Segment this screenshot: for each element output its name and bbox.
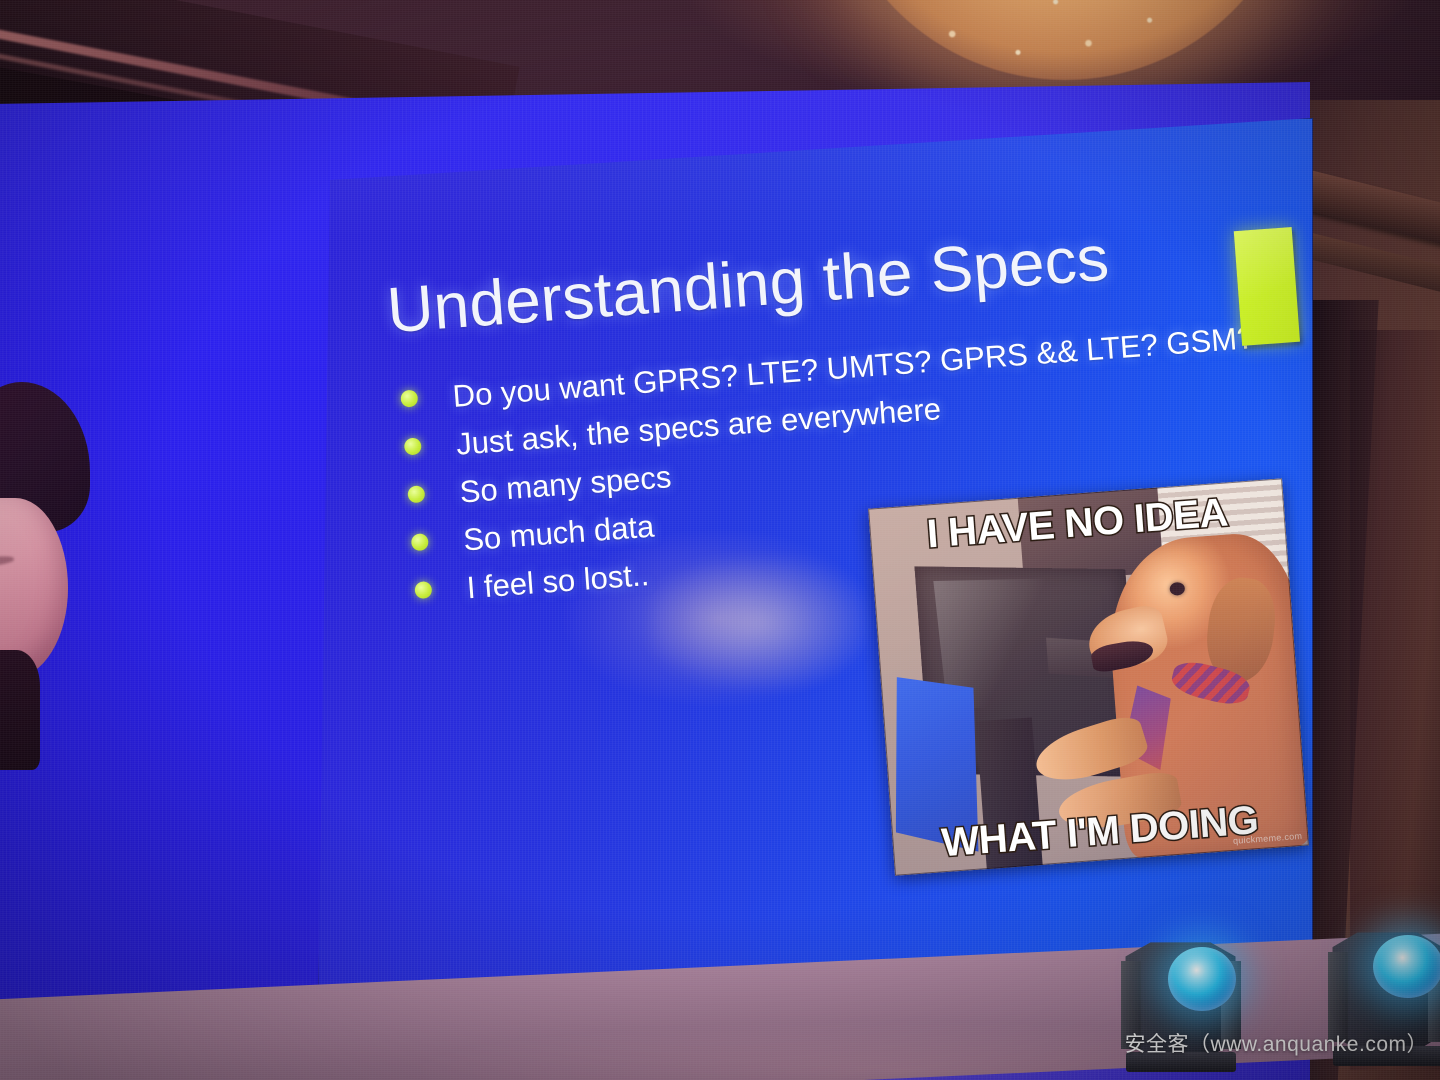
site-watermark: 安全客（www.anquanke.com） bbox=[1125, 1028, 1428, 1058]
bullet-dot-icon bbox=[414, 581, 432, 599]
page-title: Understanding the Specs bbox=[385, 221, 1112, 348]
slide-accent-rectangle bbox=[1234, 227, 1300, 346]
meme-frame bbox=[868, 478, 1309, 875]
slide-content: Understanding the Specs Do you want GPRS… bbox=[318, 118, 1313, 1021]
bullet-dot-icon bbox=[404, 437, 422, 455]
meme-image: I HAVE NO IDEA WHAT I'M DOING quickmeme.… bbox=[868, 478, 1309, 875]
conference-stage-photo: Understanding the Specs Do you want GPRS… bbox=[0, 0, 1440, 1080]
list-item-label: So many specs bbox=[458, 457, 672, 511]
stage-light-lens bbox=[1168, 947, 1236, 1011]
projection-screen: Understanding the Specs Do you want GPRS… bbox=[318, 118, 1313, 1023]
bullet-dot-icon bbox=[400, 389, 418, 407]
stage-light-lens bbox=[1373, 935, 1440, 998]
presentation-slide: Understanding the Specs Do you want GPRS… bbox=[318, 118, 1313, 1023]
chandelier-icon bbox=[830, 0, 1300, 80]
bullet-dot-icon bbox=[411, 533, 429, 551]
list-item-label: I feel so lost.. bbox=[465, 555, 650, 607]
bullet-dot-icon bbox=[407, 485, 425, 503]
list-item-label: So much data bbox=[462, 507, 656, 560]
chandelier-crystals bbox=[830, 0, 1300, 80]
audience-person-neck bbox=[0, 650, 40, 770]
